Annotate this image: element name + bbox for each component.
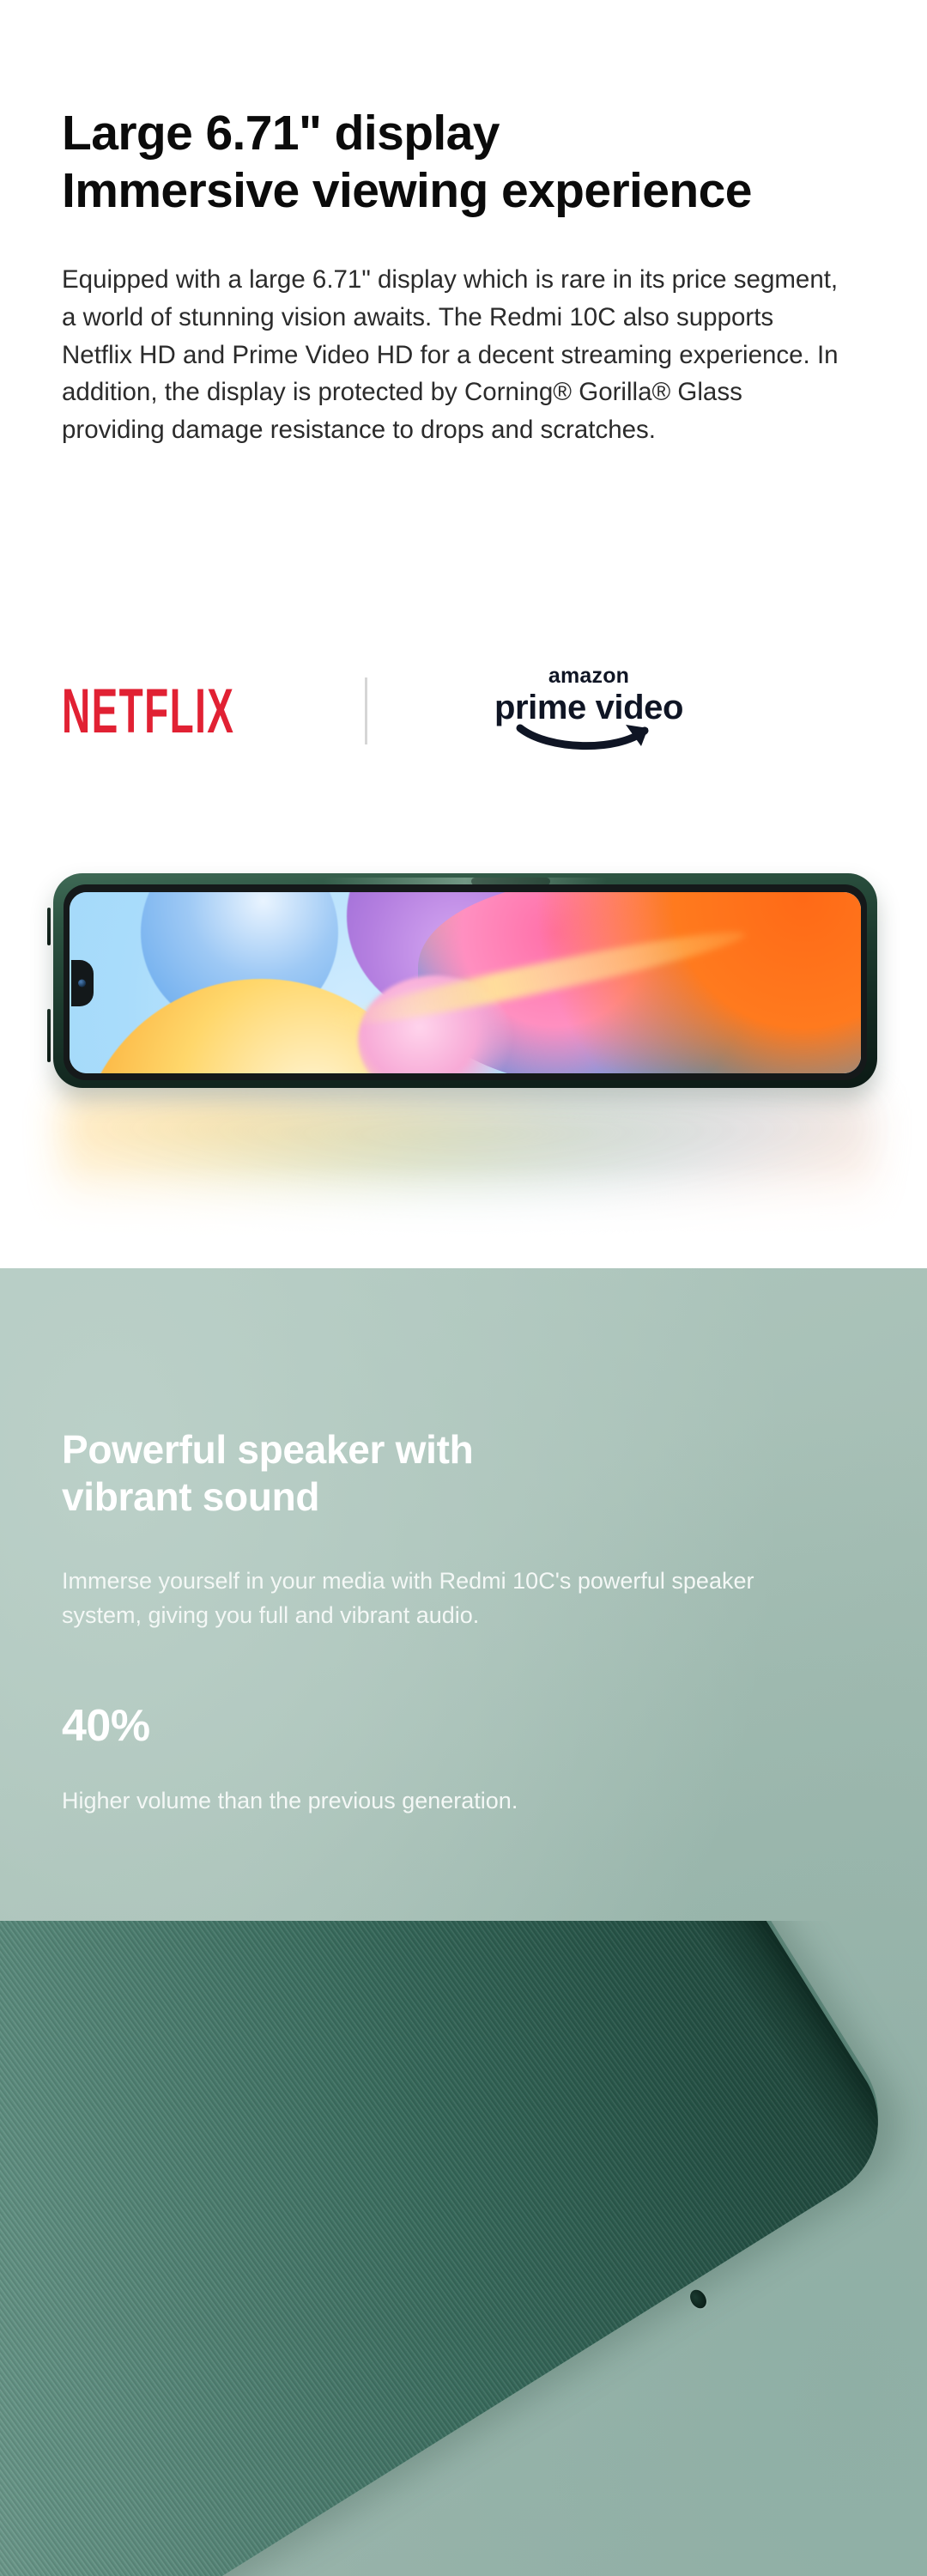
speaker-headline: Powerful speaker with vibrant sound xyxy=(62,1426,834,1521)
redmi-10c-back-panel xyxy=(0,1921,908,2576)
amazon-prime-video-logo: amazon prime video xyxy=(473,665,705,756)
volume-stat-value: 40% xyxy=(62,1700,834,1752)
speaker-feature-section: Powerful speaker with vibrant sound Imme… xyxy=(0,1268,927,2576)
amazon-wordmark: amazon xyxy=(548,665,629,687)
display-device-stage xyxy=(0,837,927,1268)
amazon-smile-arrow-icon xyxy=(516,723,662,756)
streaming-partner-logos: NETFLIX amazon prime video xyxy=(62,668,705,754)
netflix-logo: NETFLIX xyxy=(62,690,319,732)
speaker-device-stage xyxy=(0,1921,927,2576)
display-headline: Large 6.71" display Immersive viewing ex… xyxy=(62,105,869,219)
volume-button xyxy=(47,908,51,945)
display-body-text: Equipped with a large 6.71" display whic… xyxy=(62,261,839,448)
speaker-copy-block: Powerful speaker with vibrant sound Imme… xyxy=(62,1426,834,1814)
netflix-wordmark: NETFLIX xyxy=(62,680,234,743)
logo-divider xyxy=(365,677,367,744)
volume-stat-caption: Higher volume than the previous generati… xyxy=(62,1788,834,1814)
redmi-10c-landscape-device xyxy=(53,873,877,1088)
device-screen xyxy=(70,892,861,1073)
front-camera-icon xyxy=(78,979,86,987)
display-feature-section: Large 6.71" display Immersive viewing ex… xyxy=(0,0,927,1268)
prime-video-wordmark: prime video xyxy=(494,690,683,726)
speaker-body-text: Immerse yourself in your media with Redm… xyxy=(62,1564,774,1633)
waterdrop-notch xyxy=(71,960,94,1006)
power-button xyxy=(47,1009,51,1062)
stage-floor-fade xyxy=(0,1165,927,1268)
product-marketing-page: Large 6.71" display Immersive viewing ex… xyxy=(0,0,927,2576)
display-copy-block: Large 6.71" display Immersive viewing ex… xyxy=(62,105,869,449)
device-bezel xyxy=(64,884,867,1080)
